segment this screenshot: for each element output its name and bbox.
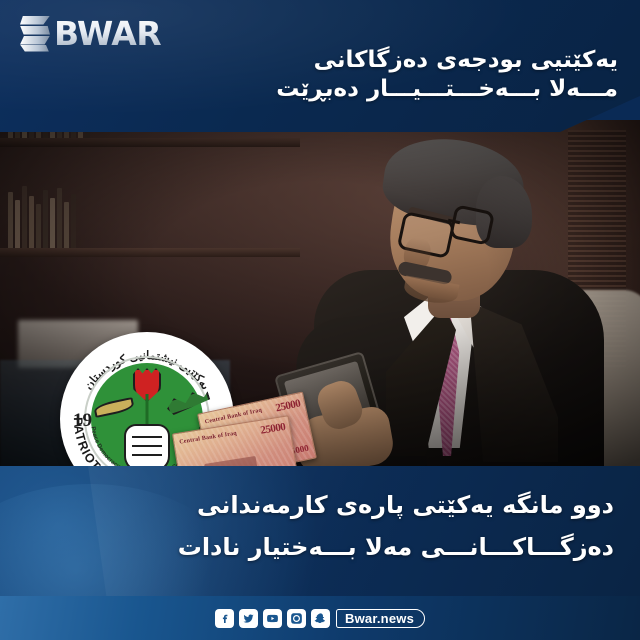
- puk-fist-icon: [124, 424, 170, 472]
- bottom-caption-panel: دوو مانگە یەکێتی پارەی کارمەندانی دەزگــ…: [0, 466, 640, 596]
- youtube-icon[interactable]: [263, 609, 282, 628]
- caption-text: دوو مانگە یەکێتی پارەی کارمەندانی دەزگــ…: [0, 484, 614, 568]
- headline-line-1: یەکێتیی بودجەی دەزگاکانی: [58, 46, 618, 75]
- site-handle[interactable]: Bwar.news: [336, 609, 425, 628]
- instagram-icon[interactable]: [287, 609, 306, 628]
- puk-year-left: 19: [73, 410, 92, 432]
- bwar-b-mark-icon: [20, 15, 50, 53]
- snapchat-icon[interactable]: [311, 609, 330, 628]
- caption-line-1: دوو مانگە یەکێتی پارەی کارمەندانی: [0, 484, 614, 526]
- header-banner: BWAR یەکێتیی بودجەی دەزگاکانی مـــەلا بـ…: [0, 0, 640, 132]
- news-photo: یەکێتیی نیشتمانیی کوردستان PATRIOTIC UNI…: [0, 120, 640, 480]
- news-graphic-card: یەکێتیی نیشتمانیی کوردستان PATRIOTIC UNI…: [0, 0, 640, 640]
- headline-line-2: مـــەلا بـــەخـــتـــیـــار دەبڕێت: [58, 75, 618, 104]
- twitter-icon[interactable]: [239, 609, 258, 628]
- footer-social-bar: Bwar.news: [0, 596, 640, 640]
- caption-line-2: دەزگـــاكـــانـــی مەلا بـــەختیار نادات: [0, 526, 614, 568]
- facebook-icon[interactable]: [215, 609, 234, 628]
- headline: یەکێتیی بودجەی دەزگاکانی مـــەلا بـــەخـ…: [58, 46, 618, 105]
